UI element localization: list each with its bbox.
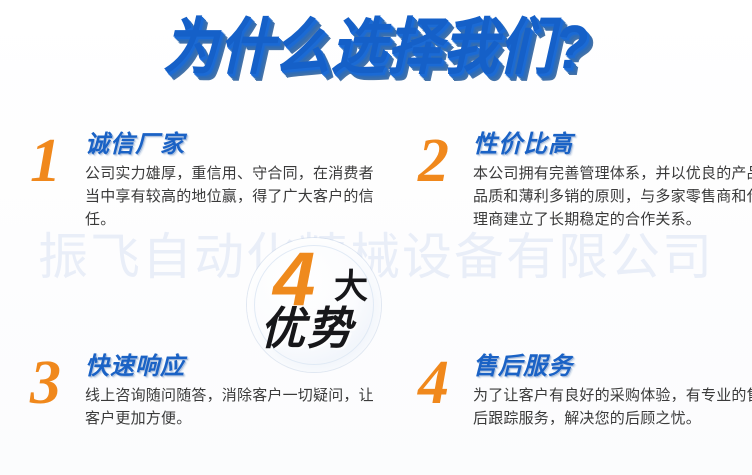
advantage-item-1: 1 诚信厂家 公司实力雄厚，重信用、守合同，在消费者当中享有较高的地位赢，得了广… — [30, 130, 380, 250]
page-title: 为什么选择我们? — [0, 18, 752, 77]
advantage-title-3: 快速响应 — [85, 354, 377, 381]
advantage-body-3: 快速响应 线上咨询随问随答，消除客户一切疑问，让客户更加方便。 — [85, 354, 377, 430]
promo-banner: 振飞自动化精械设备有限公司 为什么选择我们? 4 大 优势 1 诚信厂家 公司实… — [0, 0, 752, 475]
advantage-text-1: 公司实力雄厚，重信用、守合同，在消费者当中享有较高的地位赢，得了广大客户的信任。 — [85, 162, 377, 232]
advantage-title-1: 诚信厂家 — [85, 132, 377, 159]
advantage-number-4: 4 — [418, 352, 449, 414]
advantage-text-2: 本公司拥有完善管理体系，并以优良的产品品质和薄利多销的原则，与多家零售商和代理商… — [473, 162, 752, 232]
advantage-body-1: 诚信厂家 公司实力雄厚，重信用、守合同，在消费者当中享有较高的地位赢，得了广大客… — [85, 132, 377, 232]
advantage-title-4: 售后服务 — [473, 354, 752, 381]
advantage-body-4: 售后服务 为了让客户有良好的采购体验，有专业的售后跟踪服务，解决您的后顾之忧。 — [473, 354, 752, 430]
advantage-item-3: 3 快速响应 线上咨询随问随答，消除客户一切疑问，让客户更加方便。 — [30, 352, 380, 462]
advantage-body-2: 性价比高 本公司拥有完善管理体系，并以优良的产品品质和薄利多销的原则，与多家零售… — [473, 132, 752, 232]
advantage-text-4: 为了让客户有良好的采购体验，有专业的售后跟踪服务，解决您的后顾之忧。 — [473, 384, 752, 431]
page-title-text: 为什么选择我们? — [163, 14, 590, 81]
advantage-number-2: 2 — [418, 130, 449, 192]
advantage-item-2: 2 性价比高 本公司拥有完善管理体系，并以优良的产品品质和薄利多销的原则，与多家… — [418, 130, 752, 260]
advantage-number-1: 1 — [30, 130, 61, 192]
advantage-number-3: 3 — [30, 352, 61, 414]
advantage-item-4: 4 售后服务 为了让客户有良好的采购体验，有专业的售后跟踪服务，解决您的后顾之忧… — [418, 352, 752, 472]
advantage-title-2: 性价比高 — [473, 132, 752, 159]
advantage-text-3: 线上咨询随问随答，消除客户一切疑问，让客户更加方便。 — [85, 384, 377, 431]
